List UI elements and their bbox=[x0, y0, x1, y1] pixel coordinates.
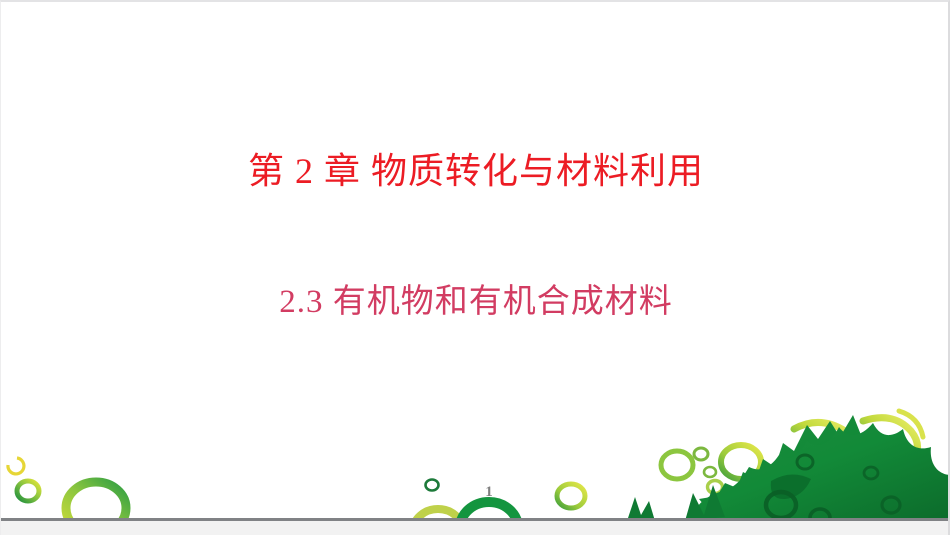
slide-canvas: 第 2 章 物质转化与材料利用 2.3 有机物和有机合成材料 bbox=[0, 0, 950, 535]
ring-mid-tiny bbox=[426, 480, 439, 491]
maple-leaf-decoration-svg bbox=[1, 355, 950, 535]
ring-right-lower-tiny bbox=[704, 467, 716, 477]
page-number: 1 bbox=[479, 484, 499, 501]
ring-left-small bbox=[17, 481, 39, 501]
slide-footer-bar bbox=[1, 518, 950, 535]
ring-left-small-arc bbox=[8, 458, 24, 474]
page-title: 第 2 章 物质转化与材料利用 bbox=[1, 142, 950, 194]
ring-right-outer bbox=[661, 451, 693, 479]
page-subtitle: 2.3 有机物和有机合成材料 bbox=[1, 274, 950, 322]
decorative-graphic bbox=[1, 355, 950, 535]
ring-center-small bbox=[557, 484, 585, 508]
ring-right-upper-tiny bbox=[694, 448, 708, 460]
